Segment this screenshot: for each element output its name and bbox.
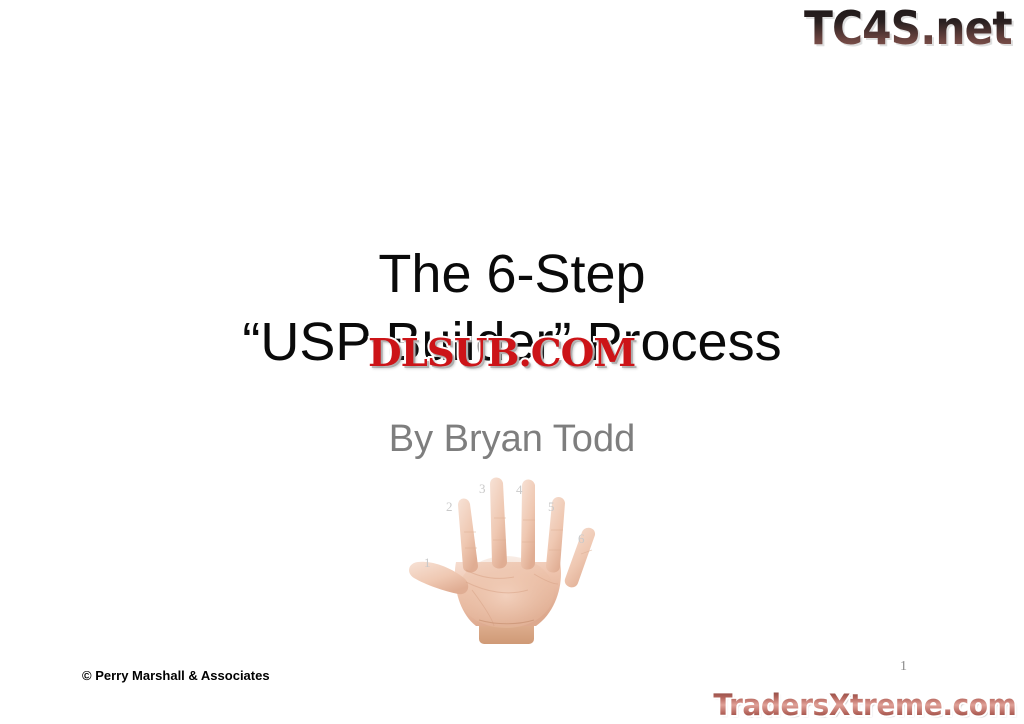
copyright-notice: © Perry Marshall & Associates (82, 668, 270, 684)
presentation-slide: TC4S.net TC4S.net The 6-Step “USP Builde… (0, 0, 1024, 724)
tc4s-logo-text: TC4S.net (804, 2, 1012, 54)
six-finger-hand-image: 1 2 3 4 5 6 (406, 470, 618, 660)
slide-number: 1 (900, 659, 907, 675)
finger-number-5: 5 (548, 500, 555, 513)
finger-number-2: 2 (446, 500, 453, 513)
finger-number-1: 1 (424, 556, 431, 569)
finger-number-6: 6 (578, 532, 585, 545)
finger-number-3: 3 (479, 482, 486, 495)
tradersxtreme-logo-text: TradersXtreme.com (713, 688, 1016, 722)
title-line-1: The 6-Step (0, 240, 1024, 308)
hand-icon (406, 470, 618, 660)
slide-byline: By Bryan Todd (0, 415, 1024, 463)
finger-number-4: 4 (516, 483, 523, 496)
dlsub-watermark: DLSUB.COM (368, 333, 635, 373)
